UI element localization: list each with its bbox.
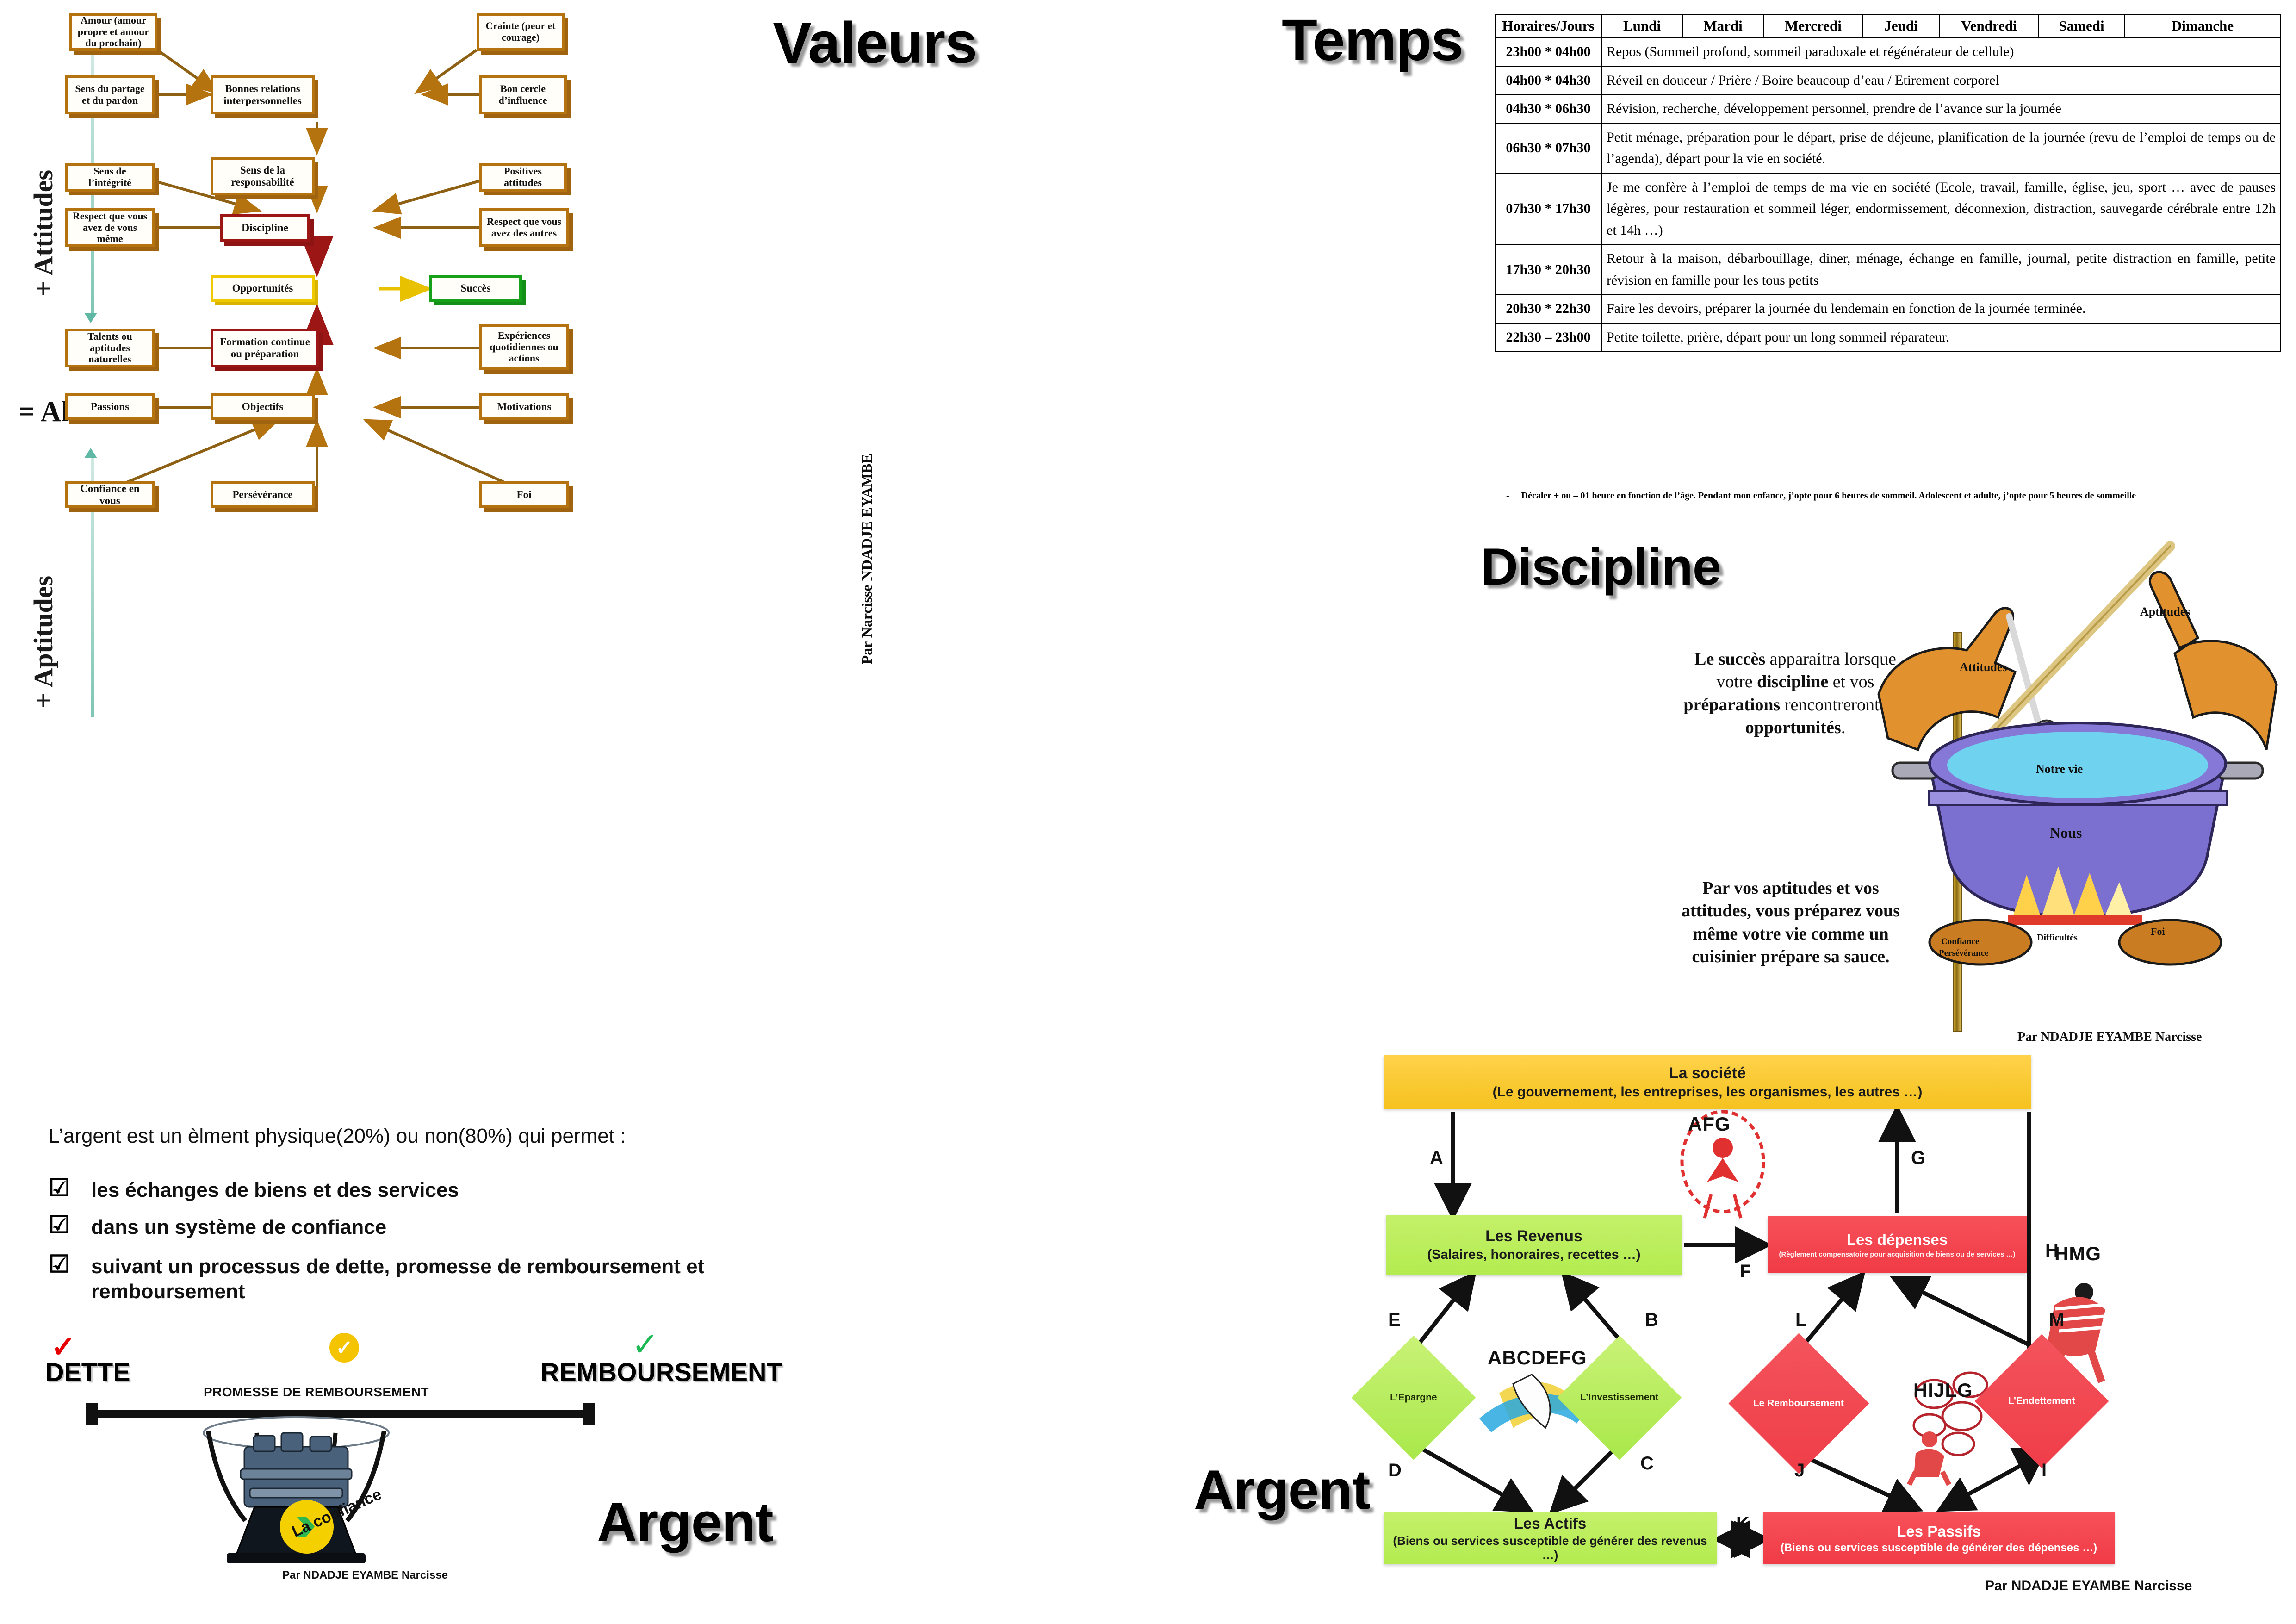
- list-item: ☑ les échanges de biens et des services: [49, 1178, 789, 1203]
- vbox-discipline: Discipline: [220, 214, 310, 242]
- argent-right-byline-bottom: Par NDADJE EYAMBE Narcisse: [1985, 1578, 2192, 1594]
- list-item: ☑ suivant un processus de dette, promess…: [49, 1254, 789, 1304]
- cell-hour: 06h30 * 07h30: [1495, 123, 1601, 173]
- flowbox-subtitle: (Biens ou services susceptible de génére…: [1388, 1534, 1712, 1562]
- valeurs-panel: Valeurs + Attitudes = Altitude + Aptitud…: [0, 0, 1148, 787]
- col-header-lundi: Lundi: [1601, 14, 1682, 38]
- discipline-panel: Discipline Le succès apparaitra lorsque …: [1148, 532, 2296, 972]
- diamond-epargne: L’Epargne: [1352, 1336, 1476, 1460]
- footnote-bullet: -: [1506, 491, 1509, 501]
- flowbox-les-passifs: Les Passifs (Biens ou services susceptib…: [1763, 1512, 2115, 1564]
- flowbox-title: Les Revenus: [1485, 1227, 1582, 1245]
- check-icon: ☑: [49, 1213, 70, 1237]
- flow-letter-F: F: [1740, 1261, 1751, 1282]
- cell-hour: 04h00 * 04h30: [1495, 66, 1601, 95]
- flow-letter-B: B: [1645, 1310, 1658, 1331]
- scale-label-dette: DETTE: [45, 1357, 130, 1387]
- vbox-opportunites: Opportunités: [211, 275, 315, 302]
- cell-desc: Faire les devoirs, préparer la journée d…: [1601, 295, 2281, 324]
- quote1-seg-discipline: discipline: [1757, 672, 1828, 691]
- temps-schedule-table: Horaires/Jours Lundi Mardi Mercredi Jeud…: [1495, 14, 2281, 352]
- flowbox-subtitle: (Règlement compensatoire pour acquisitio…: [1779, 1251, 2016, 1258]
- flow-letter-K: K: [1736, 1513, 1750, 1534]
- cell-hour: 04h30 * 06h30: [1495, 95, 1601, 124]
- argent-left-title: Argent: [597, 1490, 773, 1554]
- diamond-label: L’Epargne: [1390, 1392, 1437, 1403]
- discipline-title: Discipline: [1481, 537, 1721, 597]
- vbox-crainte: Crainte (peur et courage): [477, 13, 565, 51]
- pot-label-confiance: Confiance: [1941, 937, 1979, 946]
- vbox-respect-soi: Respect que vous avez de vous même: [65, 208, 155, 247]
- diamond-label: L’Investissement: [1580, 1392, 1658, 1403]
- vbox-partage: Sens du partage et du pardon: [65, 75, 155, 114]
- flow-letter-A: A: [1430, 1148, 1443, 1169]
- col-header-vendredi: Vendredi: [1939, 14, 2039, 38]
- list-item-label: dans un système de confiance: [91, 1216, 386, 1238]
- valeurs-title: Valeurs: [773, 9, 977, 76]
- list-item: ☑ dans un système de confiance: [49, 1215, 789, 1240]
- table-row: 06h30 * 07h30 Petit ménage, préparation …: [1495, 123, 2281, 173]
- col-header-samedi: Samedi: [2039, 14, 2124, 38]
- table-row: 22h30 – 23h00 Petite toilette, prière, d…: [1495, 323, 2281, 352]
- axis-label-attitudes: + Attitudes: [28, 56, 59, 296]
- scale-stand-engine-illustration: [176, 1414, 416, 1567]
- flowbox-title: Les Passifs: [1897, 1523, 1981, 1540]
- axis-label-aptitudes: + Aptitudes: [28, 467, 59, 708]
- pot-label-aptitudes: Aptitudes: [2140, 605, 2190, 618]
- cell-desc: Retour à la maison, débarbouillage, dine…: [1601, 245, 2281, 295]
- table-row: 07h30 * 17h30 Je me confère à l’emploi d…: [1495, 173, 2281, 245]
- vbox-succes: Succès: [429, 275, 522, 302]
- cell-desc: Révision, recherche, développement perso…: [1601, 95, 2281, 124]
- temps-panel: Temps Horaires/Jours Lundi Mardi Mercred…: [1148, 0, 2296, 537]
- quote1-seg-4: et vos: [1828, 672, 1874, 691]
- argent-right-byline-top: Par NDADJE EYAMBE Narcisse: [2017, 1030, 2202, 1045]
- table-row: 17h30 * 20h30 Retour à la maison, débarb…: [1495, 245, 2281, 295]
- scale-beam-label: PROMESSE DE REMBOURSEMENT: [204, 1385, 429, 1400]
- check-icon: ☑: [49, 1176, 70, 1200]
- col-header-mardi: Mardi: [1682, 14, 1763, 38]
- cell-hour: 22h30 – 23h00: [1495, 323, 1601, 352]
- flow-code-afg: AFG: [1688, 1113, 1731, 1135]
- argent-right-panel: Argent Par NDADJE EYAMBE Narcisse Par ND…: [1148, 1009, 2296, 1624]
- quote1-seg-succes: Le succès: [1694, 649, 1765, 669]
- table-row: 23h00 * 04h00 Repos (Sommeil profond, so…: [1495, 38, 2281, 67]
- flow-code-hmg: HMG: [2054, 1243, 2101, 1265]
- pot-label-perseverance: Persévérance: [1939, 948, 1989, 958]
- pot-label-attitudes: Attitudes: [1960, 660, 2007, 674]
- flow-letter-E: E: [1388, 1310, 1401, 1331]
- col-header-horaires: Horaires/Jours: [1495, 14, 1601, 38]
- argent-left-byline: Par NDADJE EYAMBE Narcisse: [282, 1569, 448, 1582]
- flow-letter-G: G: [1911, 1148, 1925, 1169]
- flow-letter-D: D: [1388, 1460, 1402, 1481]
- pot-label-notre-vie: Notre vie: [2036, 762, 2083, 776]
- check-icon: ☑: [49, 1252, 70, 1276]
- temps-footnote: -Décaler + ou – 01 heure en fonction de …: [1506, 491, 2288, 501]
- valeurs-connectors: [0, 0, 1148, 787]
- col-header-mercredi: Mercredi: [1763, 14, 1863, 38]
- discipline-quote-2: Par vos aptitudes et vos attitudes, vous…: [1675, 877, 1906, 969]
- cell-hour: 07h30 * 17h30: [1495, 173, 1601, 245]
- cell-desc: Petite toilette, prière, départ pour un …: [1601, 323, 2281, 352]
- valeurs-byline: Par Narcisse NDADJE EYAMBE: [858, 454, 875, 664]
- slide-canvas: Valeurs + Attitudes = Altitude + Aptitud…: [0, 0, 2296, 1624]
- table-row: 20h30 * 22h30 Faire les devoirs, prépare…: [1495, 295, 2281, 324]
- cell-desc: Repos (Sommeil profond, sommeil paradoxa…: [1601, 38, 2281, 67]
- cell-hour: 17h30 * 20h30: [1495, 245, 1601, 295]
- vbox-cercle-influence: Bon cercle d’influence: [479, 75, 567, 114]
- quote1-seg-8: .: [1841, 718, 1846, 737]
- flowbox-title: Les dépenses: [1847, 1231, 1948, 1249]
- cell-desc: Je me confère à l’emploi de temps de ma …: [1601, 173, 2281, 245]
- temps-title: Temps: [1282, 6, 1463, 74]
- diamond-endettement: L’Endettement: [1975, 1334, 2109, 1468]
- vbox-perseverance: Persévérance: [211, 481, 315, 508]
- vbox-amour: Amour (amour propre et amour du prochain…: [69, 13, 157, 51]
- vbox-integrite: Sens de l’intégrité: [65, 163, 155, 192]
- quote1-seg-opportunites: opportunités: [1745, 718, 1841, 737]
- pot-label-nous: Nous: [2050, 824, 2082, 841]
- vbox-respect-autres: Respect que vous avez des autres: [479, 208, 569, 247]
- vbox-confiance: Confiance en vous: [65, 481, 155, 508]
- flowbox-les-revenus: Les Revenus (Salaires, honoraires, recet…: [1386, 1215, 1682, 1275]
- flow-letter-M: M: [2049, 1310, 2064, 1331]
- vbox-talents: Talents ou aptitudes naturelles: [65, 329, 155, 367]
- pot-label-difficultes: Difficultés: [2037, 933, 2078, 943]
- cell-desc: Réveil en douceur / Prière / Boire beauc…: [1601, 66, 2281, 95]
- flowbox-les-depenses: Les dépenses (Règlement compensatoire po…: [1768, 1216, 2027, 1273]
- cooking-pot-illustration: Attitudes Aptitudes Notre vie Nous Confi…: [1874, 532, 2281, 972]
- table-row: 04h30 * 06h30 Révision, recherche, dével…: [1495, 95, 2281, 124]
- temps-table-body: 23h00 * 04h00 Repos (Sommeil profond, so…: [1495, 38, 2281, 352]
- table-row: 04h00 * 04h30 Réveil en douceur / Prière…: [1495, 66, 2281, 95]
- footnote-text: Décaler + ou – 01 heure en fonction de l…: [1521, 491, 2136, 501]
- cell-desc: Petit ménage, préparation pour le départ…: [1601, 123, 2281, 173]
- flowbox-title: La société: [1669, 1064, 1746, 1083]
- flow-letter-J: J: [1794, 1460, 1805, 1481]
- flowbox-subtitle: (Salaires, honoraires, recettes …): [1427, 1247, 1641, 1263]
- flowbox-subtitle: (Le gouvernement, les entreprises, les o…: [1493, 1084, 1923, 1100]
- flowbox-subtitle: (Biens ou services susceptible de génére…: [1781, 1542, 2097, 1555]
- vbox-responsabilite: Sens de la responsabilité: [211, 157, 315, 195]
- flowbox-la-societe: La société (Le gouvernement, les entrepr…: [1384, 1055, 2031, 1109]
- vbox-passions: Passions: [65, 393, 155, 420]
- vbox-motivations: Motivations: [479, 393, 569, 420]
- vbox-positives-attitudes: Positives attitudes: [479, 163, 567, 192]
- cell-hour: 23h00 * 04h00: [1495, 38, 1601, 67]
- diamond-label: Le Remboursement: [1753, 1398, 1844, 1409]
- flow-letter-L: L: [1795, 1310, 1806, 1331]
- diamond-remboursement: Le Remboursement: [1728, 1333, 1869, 1474]
- vbox-foi: Foi: [479, 481, 569, 508]
- vbox-bonnes-relations: Bonnes relations interpersonnelles: [211, 75, 315, 114]
- argent-right-title: Argent: [1194, 1458, 1370, 1522]
- diamond-label: L’Endettement: [2008, 1396, 2075, 1407]
- flowbox-les-actifs: Les Actifs (Biens ou services susceptibl…: [1384, 1512, 1717, 1564]
- vbox-formation: Formation continue ou préparation: [211, 329, 319, 367]
- cell-hour: 20h30 * 22h30: [1495, 295, 1601, 324]
- argent-intro-text: L’argent est un èlment physique(20%) ou …: [49, 1125, 626, 1148]
- list-item-label: les échanges de biens et des services: [91, 1179, 459, 1201]
- table-header-row: Horaires/Jours Lundi Mardi Mercredi Jeud…: [1495, 14, 2281, 38]
- scale-label-remboursement: REMBOURSEMENT: [540, 1357, 782, 1387]
- vbox-experiences: Expériences quotidiennes ou actions: [479, 324, 569, 370]
- axis-arrow-down: [84, 313, 97, 323]
- check-icon-green: ✓: [632, 1328, 659, 1361]
- flowbox-title: Les Actifs: [1514, 1515, 1587, 1532]
- flow-code-abcdefg: ABCDEFG: [1488, 1347, 1587, 1369]
- vbox-objectifs: Objectifs: [211, 393, 315, 420]
- check-icon-yellow: ✓: [329, 1333, 359, 1363]
- col-header-jeudi: Jeudi: [1863, 14, 1939, 38]
- quote1-seg-preparations: préparations: [1683, 695, 1780, 715]
- col-header-dimanche: Dimanche: [2124, 14, 2281, 38]
- list-item-label: suivant un processus de dette, promesse …: [91, 1255, 704, 1303]
- flow-letter-C: C: [1640, 1453, 1654, 1474]
- axis-arrow-up: [84, 448, 97, 458]
- flow-letter-I: I: [2042, 1460, 2047, 1481]
- argent-left-panel: L’argent est un èlment physique(20%) ou …: [0, 1101, 1148, 1624]
- pot-label-foi: Foi: [2151, 926, 2165, 937]
- flow-code-hijlg: HIJLG: [1913, 1379, 1973, 1401]
